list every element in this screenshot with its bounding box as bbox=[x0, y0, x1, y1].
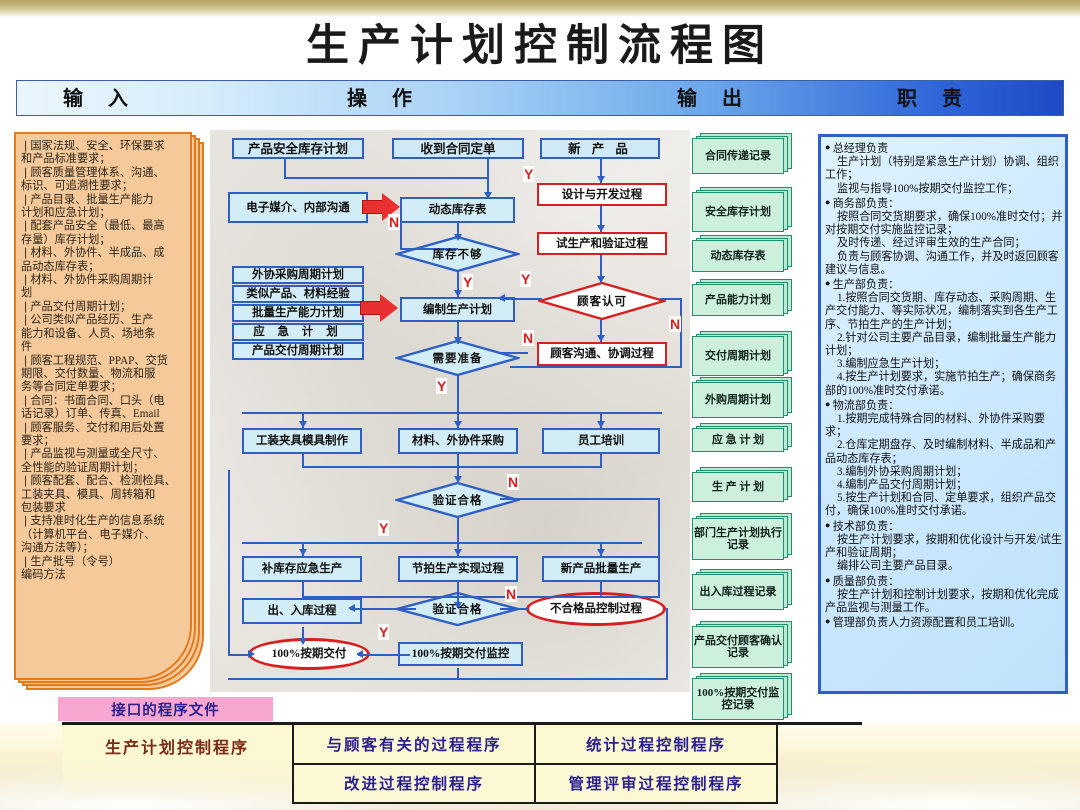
column-header-operation: 操 作 bbox=[347, 81, 422, 117]
responsibility-item: 及时传递、经过评审生效的生产合同； bbox=[825, 237, 1065, 250]
responsibility-item: 1.按期完成特殊合同的材料、外协件采购要求； bbox=[825, 413, 1065, 439]
output-document-stack[interactable]: 产品交付顾客确认记录 bbox=[692, 626, 788, 668]
decision-need-preparation[interactable]: 需要准备 bbox=[395, 339, 520, 377]
node-new-product[interactable]: 新 产 品 bbox=[540, 138, 660, 159]
input-requirement-line: ❘配套产品安全（最低、最高 bbox=[21, 220, 191, 233]
arrowhead bbox=[299, 549, 307, 556]
input-requirement-line: 存量）库存计划； bbox=[21, 234, 191, 247]
node-ontime-delivery-monitor[interactable]: 100%按期交付监控 bbox=[398, 642, 523, 666]
output-document-stack[interactable]: 出入库过程记录 bbox=[692, 574, 788, 610]
responsibility-item: 按照合同交货期要求，确保100%准时交付；并对按期交付实施监控记录； bbox=[825, 211, 1065, 237]
output-document-stack[interactable]: 100%按期交付监控记录 bbox=[692, 678, 788, 720]
decision-customer-approval[interactable]: 顾客认可 bbox=[538, 281, 666, 321]
input-requirement-line: 话记录）订单、传真、Email bbox=[21, 408, 191, 421]
decision-verify-qualified-1[interactable]: 验证合格 bbox=[395, 481, 520, 519]
connector bbox=[500, 498, 660, 500]
connector bbox=[510, 366, 680, 368]
input-panel: ❘国家法规、安全、环保要求和产品标准要求；❘顾客质量管理体系、沟通、标识、可追溯… bbox=[14, 132, 204, 692]
branch-label-no-4: N bbox=[507, 474, 519, 490]
connector bbox=[358, 654, 410, 656]
arrow-tail bbox=[362, 200, 384, 214]
connector bbox=[500, 298, 542, 300]
node-electronic-media-comm[interactable]: 电子媒介、内部沟通 bbox=[228, 192, 368, 223]
arrowhead bbox=[454, 337, 462, 344]
node-receive-contract-order[interactable]: 收到合同定单 bbox=[392, 138, 524, 159]
arrowhead bbox=[484, 192, 492, 199]
connector bbox=[284, 159, 286, 179]
input-requirement-line: ❘顾客服务、交付和用后处置 bbox=[21, 422, 191, 435]
responsibility-item: 3.编制外协采购周期计划； bbox=[825, 466, 1065, 479]
output-document-label: 出入库过程记录 bbox=[692, 574, 784, 610]
input-requirement-line: ❘顾客质量管理体系、沟通、 bbox=[21, 167, 191, 180]
arrowhead bbox=[454, 290, 462, 297]
branch-label-yes-3: Y bbox=[520, 271, 531, 287]
branch-label-yes-2: Y bbox=[462, 274, 473, 290]
responsibility-heading: 商务部负责： bbox=[825, 196, 1065, 211]
footer-cell-1[interactable]: 统计过程控制程序 bbox=[536, 725, 776, 763]
input-requirement-line: 期限、交付数量、物流和服 bbox=[21, 368, 191, 381]
output-document-label: 产品交付顾客确认记录 bbox=[692, 626, 784, 668]
column-header-responsibility: 职 责 bbox=[897, 81, 972, 117]
input-requirement-line: 件 bbox=[21, 341, 191, 354]
responsibility-item: 3.编制应急生产计划； bbox=[825, 358, 1065, 371]
node-material-outsourcing-purchase[interactable]: 材料、外协件采购 bbox=[398, 428, 518, 454]
output-document-stack[interactable]: 交付周期计划 bbox=[692, 336, 788, 376]
node-batch-capacity-plan[interactable]: 批量生产能力计划 bbox=[232, 304, 364, 322]
connector bbox=[242, 412, 662, 414]
input-requirement-line: ❘公司类似产品经历、生产 bbox=[21, 314, 191, 327]
arrowhead bbox=[454, 476, 462, 483]
branch-label-yes: Y bbox=[523, 166, 534, 182]
output-document-label: 部门生产计划执行记录 bbox=[692, 518, 784, 560]
arrowhead bbox=[498, 294, 505, 302]
input-requirement-line: ❘顾客工程规范、PPAP、交货 bbox=[21, 355, 191, 368]
footer-cell-2[interactable]: 改进过程控制程序 bbox=[294, 764, 534, 802]
node-delivery-cycle-plan[interactable]: 产品交付周期计划 bbox=[232, 342, 364, 360]
output-document-label: 安全库存计划 bbox=[692, 192, 784, 232]
connector bbox=[500, 352, 528, 354]
node-customer-communication[interactable]: 顾客沟通、协调过程 bbox=[537, 342, 667, 366]
arrowhead bbox=[597, 176, 605, 183]
responsibility-heading: 管理部负责人力资源配置和员工培训。 bbox=[825, 615, 1065, 630]
block-arrow-right-icon-2 bbox=[360, 294, 402, 322]
responsibility-panel: 总经理负责生产计划（特别是紧急生产计划）协调、组织工作；监视与指导100%按期交… bbox=[818, 134, 1068, 694]
arrowhead bbox=[454, 549, 462, 556]
footer-main-procedure[interactable]: 生产计划控制程序 bbox=[62, 722, 292, 802]
decision-label: 库存不够 bbox=[433, 246, 483, 262]
connector bbox=[500, 608, 528, 610]
node-outsourcing-cycle-plan[interactable]: 外协采购周期计划 bbox=[232, 266, 364, 284]
interface-documents-label: 接口的程序文件 bbox=[58, 697, 273, 721]
arrowhead bbox=[597, 549, 605, 556]
input-requirement-line: 包装要求 bbox=[21, 502, 191, 515]
arrowhead bbox=[454, 421, 462, 428]
output-document-label: 动态库存表 bbox=[692, 240, 784, 272]
arrowhead bbox=[248, 650, 255, 658]
connector bbox=[228, 678, 668, 680]
branch-label-yes-6: Y bbox=[378, 624, 389, 640]
connector bbox=[457, 518, 459, 544]
column-header-output: 输 出 bbox=[677, 81, 752, 117]
arrow-tail bbox=[360, 301, 382, 315]
connector bbox=[400, 216, 402, 250]
decision-label: 验证合格 bbox=[433, 601, 483, 617]
input-requirement-line: ❘顾客配套、配合、检测检具、 bbox=[21, 475, 191, 488]
output-document-stack[interactable]: 产品能力计划 bbox=[692, 284, 788, 316]
branch-label-yes-4: Y bbox=[436, 378, 447, 394]
branch-label-yes-5: Y bbox=[378, 520, 389, 536]
output-document-label: 产品能力计划 bbox=[692, 284, 784, 316]
responsibility-item: 监视与指导100%按期交付监控工作； bbox=[825, 183, 1065, 196]
branch-label-no: N bbox=[388, 214, 400, 230]
connector bbox=[660, 298, 682, 300]
input-requirement-line: 要求； bbox=[21, 435, 191, 448]
input-requirement-line: ❘支持准时化生产的信息系统 bbox=[21, 515, 191, 528]
footer-rule-v2 bbox=[534, 722, 536, 804]
branch-label-no-3: N bbox=[522, 330, 534, 346]
responsibility-item: 1.按照合同交货期、库存动态、采购周期、生产交付能力、等实际状况，编制落实到各生… bbox=[825, 292, 1065, 332]
connector bbox=[666, 608, 668, 680]
responsibility-heading: 技术部负责： bbox=[825, 519, 1065, 534]
node-replenish-emergency-production[interactable]: 补库存应急生产 bbox=[242, 556, 362, 582]
output-document-label: 交付周期计划 bbox=[692, 336, 784, 376]
connector bbox=[350, 608, 416, 610]
responsibility-item: 生产计划（特别是紧急生产计划）协调、组织工作； bbox=[825, 156, 1065, 182]
input-requirements-list: ❘国家法规、安全、环保要求和产品标准要求；❘顾客质量管理体系、沟通、标识、可追溯… bbox=[21, 140, 191, 670]
connector bbox=[302, 466, 602, 468]
responsibility-item: 编排公司主要产品目录。 bbox=[825, 560, 1065, 573]
operation-flowchart: 产品安全库存计划 收到合同定单 新 产 品 电子媒介、内部沟通 动态库存表 设计… bbox=[210, 130, 690, 692]
node-design-development[interactable]: 设计与开发过程 bbox=[537, 183, 667, 206]
arrowhead bbox=[454, 234, 462, 241]
input-requirement-line: 和产品标准要求； bbox=[21, 153, 191, 166]
responsibility-item: 5.按生产计划和合同、定单要求，组织产品交付，确保100%准时交付承诺。 bbox=[825, 492, 1065, 518]
output-document-label: 外购周期计划 bbox=[692, 382, 784, 418]
input-requirement-line: 能力和设备、人员、场地条 bbox=[21, 328, 191, 341]
arrowhead bbox=[356, 650, 363, 658]
footer-cell-0[interactable]: 与顾客有关的过程程序 bbox=[294, 725, 534, 763]
responsibility-heading: 总经理负责 bbox=[825, 141, 1065, 156]
node-dynamic-stock-table[interactable]: 动态库存表 bbox=[400, 197, 515, 223]
footer-rule-v1 bbox=[292, 722, 294, 804]
output-document-stack[interactable]: 部门生产计划执行记录 bbox=[692, 518, 788, 560]
node-new-product-batch-production[interactable]: 新产品批量生产 bbox=[542, 556, 660, 582]
input-requirement-line: 工装夹具、模具、周转箱和 bbox=[21, 489, 191, 502]
responsibility-item: 2.仓库定期盘存、及时编制材料、半成品和产品动态库存表； bbox=[825, 439, 1065, 465]
connector bbox=[228, 654, 250, 656]
footer-rule-v3 bbox=[776, 722, 778, 804]
responsibility-item: 按生产计划和控制计划要求，按期和优化完成产品监视与测量工作。 bbox=[825, 589, 1065, 615]
output-document-label: 应 急 计 划 bbox=[692, 428, 784, 452]
input-panel-sheet-front: ❘国家法规、安全、环保要求和产品标准要求；❘顾客质量管理体系、沟通、标识、可追溯… bbox=[14, 132, 192, 680]
output-document-stack[interactable]: 动态库存表 bbox=[692, 240, 788, 272]
node-emergency-plan[interactable]: 应 急 计 划 bbox=[232, 323, 364, 341]
arrowhead bbox=[299, 638, 307, 645]
branch-label-no-2: N bbox=[669, 316, 681, 332]
input-requirement-line: ❘材料、外协件、半成品、成 bbox=[21, 247, 191, 260]
page-title: 生产计划控制流程图 bbox=[0, 18, 1080, 76]
input-requirement-line: 全性能的验证周期计划； bbox=[21, 462, 191, 475]
output-document-label: 生 产 计 划 bbox=[692, 472, 784, 502]
node-similar-product-exp[interactable]: 类似产品、材料经验 bbox=[232, 285, 364, 303]
arrowhead bbox=[597, 225, 605, 232]
responsibility-item: 4.按生产计划要求，实施节拍生产；确保商务部的100%准时交付承诺。 bbox=[825, 371, 1065, 397]
connector bbox=[658, 498, 660, 598]
arrowhead bbox=[299, 421, 307, 428]
input-requirement-line: 计划和应急计划； bbox=[21, 207, 191, 220]
responsibility-item: 按生产计划要求，按期和优化设计与开发/试生产和验证周期； bbox=[825, 534, 1065, 560]
column-header-bar: 输 入 操 作 输 出 职 责 bbox=[16, 80, 1064, 116]
arrow-head bbox=[380, 294, 398, 322]
output-document-stack[interactable]: 合同传递记录 bbox=[692, 138, 788, 174]
node-takt-production-process[interactable]: 节拍生产实现过程 bbox=[398, 556, 518, 582]
connector bbox=[284, 177, 489, 179]
output-document-column: 合同传递记录安全库存计划动态库存表产品能力计划交付周期计划外购周期计划应 急 计… bbox=[692, 136, 810, 692]
input-requirement-line: ❘国家法规、安全、环保要求 bbox=[21, 140, 191, 153]
responsibility-heading: 质量部负责： bbox=[825, 574, 1065, 589]
responsibility-heading: 生产部负责： bbox=[825, 277, 1065, 292]
input-requirement-line: ❘合同：书面合同、口头（电 bbox=[21, 395, 191, 408]
output-document-label: 合同传递记录 bbox=[692, 138, 784, 174]
column-header-input: 输 入 bbox=[63, 81, 138, 117]
responsibility-item: 2.针对公司主要产品目录，编制批量生产能力计划； bbox=[825, 332, 1065, 358]
responsibility-list: 总经理负责生产计划（特别是紧急生产计划）协调、组织工作；监视与指导100%按期交… bbox=[825, 141, 1065, 689]
input-requirement-line: 划 bbox=[21, 287, 191, 300]
decision-label: 顾客认可 bbox=[577, 293, 627, 309]
input-requirement-line: ❘材料、外协件采购周期计 bbox=[21, 274, 191, 287]
input-requirement-line: ❘生产批号（令号） bbox=[21, 556, 191, 569]
input-requirement-line: 标识、可追溯性要求； bbox=[21, 180, 191, 193]
arrowhead bbox=[348, 604, 355, 612]
node-staff-training[interactable]: 员工培训 bbox=[542, 428, 660, 454]
connector bbox=[457, 376, 459, 414]
footer-cell-3[interactable]: 管理评审过程控制程序 bbox=[536, 764, 776, 802]
responsibility-item: 负责与顾客协调、沟通工作，并及时返回顾客建议与信息。 bbox=[825, 251, 1065, 277]
output-document-label: 100%按期交付监控记录 bbox=[692, 678, 784, 720]
input-requirement-line: 沟通方法等）； bbox=[21, 542, 191, 555]
input-requirement-line: ❘产品交付周期计划； bbox=[21, 301, 191, 314]
connector bbox=[228, 470, 230, 654]
output-document-stack[interactable]: 安全库存计划 bbox=[692, 192, 788, 232]
connector bbox=[302, 596, 660, 598]
arrowhead bbox=[597, 421, 605, 428]
input-requirement-line: 编码方法 bbox=[21, 569, 191, 582]
decision-label: 需要准备 bbox=[433, 350, 483, 366]
arrowhead bbox=[597, 276, 605, 283]
input-requirement-line: 品动态库存表； bbox=[21, 261, 191, 274]
decision-label: 验证合格 bbox=[433, 492, 483, 508]
responsibility-heading: 物流部负责： bbox=[825, 398, 1065, 413]
output-document-stack[interactable]: 应 急 计 划 bbox=[692, 428, 788, 452]
node-in-out-warehouse-process[interactable]: 出、入库过程 bbox=[242, 598, 362, 624]
output-document-stack[interactable]: 外购周期计划 bbox=[692, 382, 788, 418]
arrowhead bbox=[597, 335, 605, 342]
input-requirement-line: ❘产品目录、批量生产能力 bbox=[21, 194, 191, 207]
branch-label-no-5: N bbox=[505, 586, 517, 602]
top-decoration-strip bbox=[0, 0, 1080, 17]
connector bbox=[457, 668, 459, 680]
node-trial-production-verify[interactable]: 试生产和验证过程 bbox=[537, 232, 667, 255]
responsibility-item: 4.编制产品交付周期计划； bbox=[825, 479, 1065, 492]
connector bbox=[680, 298, 682, 368]
input-requirement-line: （计算机平台、电子媒介、 bbox=[21, 529, 191, 542]
output-document-stack[interactable]: 生 产 计 划 bbox=[692, 472, 788, 502]
node-safety-stock-plan[interactable]: 产品安全库存计划 bbox=[232, 138, 364, 159]
input-requirement-line: 务等合同定单要求； bbox=[21, 381, 191, 394]
footer-procedure-table: 生产计划控制程序 与顾客有关的过程程序 统计过程控制程序 改进过程控制程序 管理… bbox=[62, 722, 1080, 804]
terminal-ontime-delivery-100[interactable]: 100%按期交付 bbox=[248, 638, 370, 670]
node-tooling-mold-manufacture[interactable]: 工装夹具模具制作 bbox=[242, 428, 362, 454]
input-requirement-line: ❘产品监视与测量或全尺寸、 bbox=[21, 448, 191, 461]
